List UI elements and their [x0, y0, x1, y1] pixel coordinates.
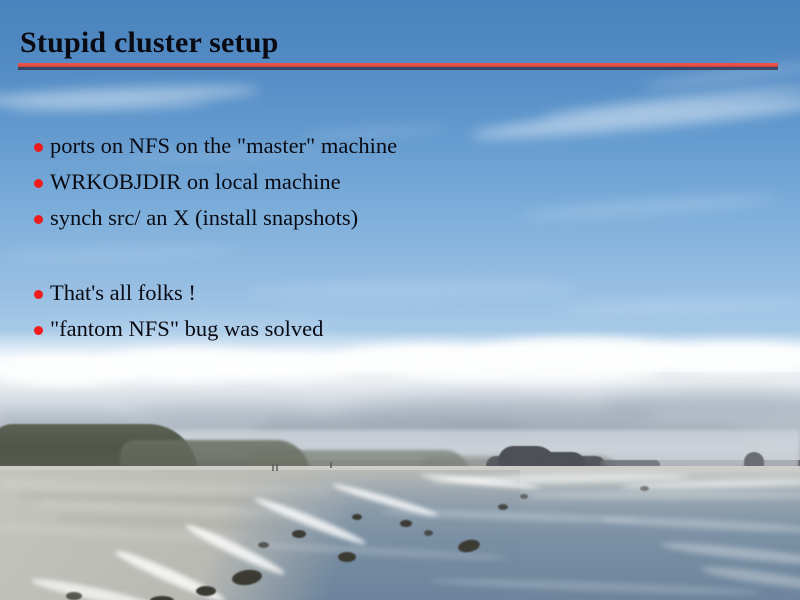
bullet-dot-icon [34, 179, 43, 188]
seaweed-clump [292, 530, 306, 538]
seaweed-clump [352, 514, 362, 520]
bullet-dot-icon [34, 326, 43, 335]
bullet-text: synch src/ an X (install snapshots) [50, 205, 358, 231]
bullet-text: "fantom NFS" bug was solved [50, 316, 323, 342]
slide-title: Stupid cluster setup [20, 26, 279, 60]
seaweed-clump [258, 542, 269, 548]
bullet-item: synch src/ an X (install snapshots) [34, 200, 754, 236]
seaweed-clump [338, 552, 356, 562]
bullet-list: ports on NFS on the "master" machineWRKO… [34, 128, 754, 347]
seaweed-clump [520, 494, 528, 499]
cloud-puff [400, 356, 660, 382]
ocean-water [0, 470, 800, 600]
seaweed-clump [498, 504, 508, 510]
distant-person [330, 462, 332, 468]
seaweed-clump [640, 486, 649, 491]
seaweed-clump [424, 530, 433, 536]
seaweed-clump [150, 596, 174, 600]
bullet-item: WRKOBJDIR on local machine [34, 164, 754, 200]
bullet-text: WRKOBJDIR on local machine [50, 169, 341, 195]
seaweed-clump [400, 520, 412, 527]
bullet-dot-icon [34, 215, 43, 224]
seaweed-clump [66, 592, 82, 600]
bullet-dot-icon [34, 290, 43, 299]
seaweed-clump [196, 586, 216, 596]
bullet-item: That's all folks ! [34, 275, 754, 311]
title-underline [18, 63, 778, 70]
bullet-item: "fantom NFS" bug was solved [34, 311, 754, 347]
bullet-text: ports on NFS on the "master" machine [50, 133, 397, 159]
wave-crest [520, 492, 800, 499]
presentation-slide: Stupid cluster setup ports on NFS on the… [0, 0, 800, 600]
bullet-item: ports on NFS on the "master" machine [34, 128, 754, 164]
bullet-dot-icon [34, 143, 43, 152]
bullet-spacer [34, 236, 754, 275]
title-underline-shadow [18, 67, 778, 70]
bullet-text: That's all folks ! [50, 280, 196, 306]
